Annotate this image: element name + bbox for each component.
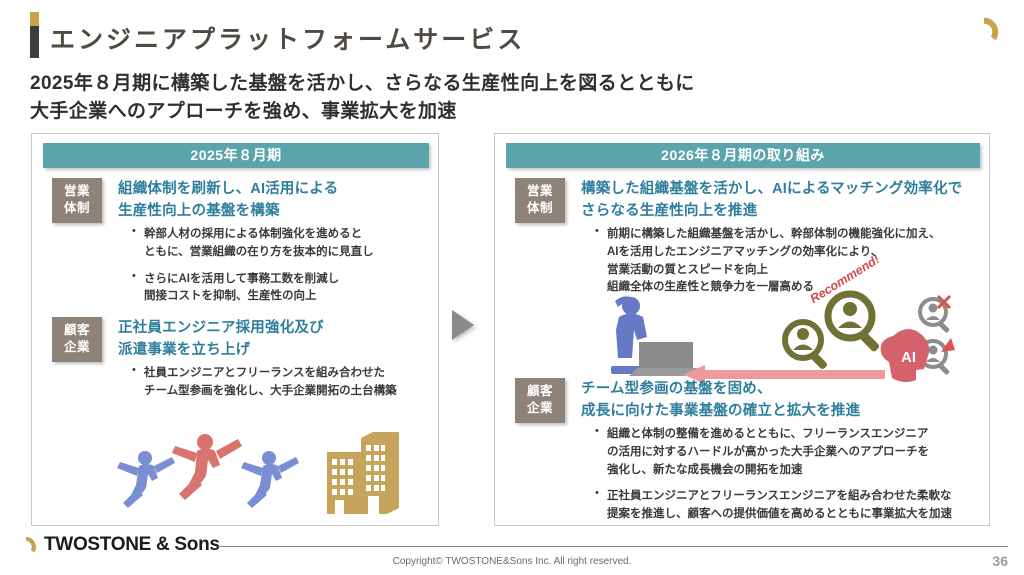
badge-line-1: 顧客 <box>52 322 102 339</box>
bullet-line: 前期に構築した組織基盤を活かし、幹部体制の機能強化に加え、 <box>607 226 941 244</box>
ai-matching-illustration: AI <box>593 284 985 394</box>
bullet-line: ともに、営業組織の在り方を抜本的に見直し <box>144 244 374 262</box>
left-block-customer-bullets: 社員エンジニアとフリーランスを組み合わせた チーム型参画を強化し、大手企業開拓の… <box>132 365 397 401</box>
bullet-line: チーム型参画を強化し、大手企業開拓の土台構築 <box>144 383 397 401</box>
page-title: エンジニアプラットフォームサービス <box>50 20 525 56</box>
badge-line-2: 体制 <box>515 200 565 217</box>
footer-divider <box>218 546 1008 547</box>
heading-line-2: 成長に向けた事業基盤の確立と拡大を推進 <box>581 401 860 423</box>
slide-root: エンジニアプラットフォームサービス 2025年８月期に構築した基盤を活かし、さら… <box>0 0 1024 575</box>
badge-customer-company: 顧客 企業 <box>515 378 565 423</box>
badge-line-2: 体制 <box>52 200 102 217</box>
badge-line-2: 企業 <box>515 400 565 417</box>
left-block-sales-heading: 組織体制を刷新し、AI活用による 生産性向上の基盤を構築 <box>118 179 338 223</box>
page-number: 36 <box>992 553 1008 569</box>
panel-right-header: 2026年８月期の取り組み <box>506 143 980 168</box>
bullet-line: 強化し、新たな成長機会の開拓を加速 <box>607 462 952 480</box>
bullet-line: 幹部人材の採用による体制強化を進めると <box>144 226 374 244</box>
bullet-line: 組織と体制の整備を進めるとともに、フリーランスエンジニア <box>607 426 952 444</box>
badge-line-1: 営業 <box>515 183 565 200</box>
list-item: さらにAIを活用して事務工数を削減し 間接コストを抑制、生産性の向上 <box>132 271 374 307</box>
title-accent-gold <box>30 12 39 26</box>
heading-line-2: 派遣事業を立ち上げ <box>118 340 324 362</box>
heading-line-1: 組織体制を刷新し、AI活用による <box>118 179 338 201</box>
panel-left-header: 2025年８月期 <box>43 143 429 168</box>
title-accent-bar <box>30 12 39 58</box>
flow-arrow-icon <box>452 310 474 340</box>
footer-logo-text: TWOSTONE & Sons <box>44 534 220 556</box>
heading-line-1: 構築した組織基盤を活かし、AIによるマッチング効率化で <box>581 179 962 201</box>
badge-line-1: 顧客 <box>515 383 565 400</box>
badge-sales-structure: 営業 体制 <box>515 178 565 223</box>
bullet-line: の活用に対するハードルが高かった大手企業へのアプローチを <box>607 444 952 462</box>
list-item: 組織と体制の整備を進めるとともに、フリーランスエンジニア の活用に対するハードル… <box>595 426 952 479</box>
bullet-line: 営業活動の質とスピードを向上 <box>607 262 941 280</box>
panel-fy2026: 2026年８月期の取り組み 営業 体制 構築した組織基盤を活かし、AIによるマッ… <box>494 133 990 526</box>
badge-line-1: 営業 <box>52 183 102 200</box>
bullet-line: 間接コストを抑制、生産性の向上 <box>144 288 374 306</box>
subtitle-line-2: 大手企業へのアプローチを強め、事業拡大を加速 <box>30 98 930 126</box>
twostone-ring-logo-icon <box>966 14 1002 50</box>
svg-text:AI: AI <box>901 349 916 366</box>
heading-line-2: 生産性向上の基盤を構築 <box>118 201 338 223</box>
left-block-customer-heading: 正社員エンジニア採用強化及び 派遣事業を立ち上げ <box>118 318 324 362</box>
left-block-sales-bullets: 幹部人材の採用による体制強化を進めると ともに、営業組織の在り方を抜本的に見直し… <box>132 226 374 306</box>
bullet-line: 提案を推進し、顧客への提供価値を高めるとともに事業拡大を加速 <box>607 506 952 524</box>
bullet-line: AIを活用したエンジニアマッチングの効率化により、 <box>607 244 941 262</box>
badge-line-2: 企業 <box>52 339 102 356</box>
jumping-people-and-building-illustration <box>109 426 399 521</box>
subtitle-line-1: 2025年８月期に構築した基盤を活かし、さらなる生産性向上を図るとともに <box>30 70 930 98</box>
list-item: 社員エンジニアとフリーランスを組み合わせた チーム型参画を強化し、大手企業開拓の… <box>132 365 397 401</box>
bullet-line: 社員エンジニアとフリーランスを組み合わせた <box>144 365 397 383</box>
badge-customer-company: 顧客 企業 <box>52 317 102 362</box>
list-item: 幹部人材の採用による体制強化を進めると ともに、営業組織の在り方を抜本的に見直し <box>132 226 374 262</box>
bullet-line: 正社員エンジニアとフリーランスエンジニアを組み合わせた柔軟な <box>607 488 952 506</box>
heading-line-1: チーム型参画の基盤を固め、 <box>581 379 860 401</box>
right-block-sales-heading: 構築した組織基盤を活かし、AIによるマッチング効率化で さらなる生産性向上を推進 <box>581 179 962 223</box>
copyright-text: Copyright© TWOSTONE&Sons Inc. All right … <box>0 556 1024 567</box>
heading-line-2: さらなる生産性向上を推進 <box>581 201 962 223</box>
right-block-customer-bullets: 組織と体制の整備を進めるとともに、フリーランスエンジニア の活用に対するハードル… <box>595 426 952 524</box>
list-item: 正社員エンジニアとフリーランスエンジニアを組み合わせた柔軟な 提案を推進し、顧客… <box>595 488 952 524</box>
right-block-customer-heading: チーム型参画の基盤を固め、 成長に向けた事業基盤の確立と拡大を推進 <box>581 379 860 423</box>
heading-line-1: 正社員エンジニア採用強化及び <box>118 318 324 340</box>
page-subtitle: 2025年８月期に構築した基盤を活かし、さらなる生産性向上を図るとともに 大手企… <box>30 70 930 125</box>
bullet-line: さらにAIを活用して事務工数を削減し <box>144 271 374 289</box>
panel-fy2025: 2025年８月期 営業 体制 組織体制を刷新し、AI活用による 生産性向上の基盤… <box>31 133 439 526</box>
badge-sales-structure: 営業 体制 <box>52 178 102 223</box>
title-accent-dark <box>30 26 39 58</box>
